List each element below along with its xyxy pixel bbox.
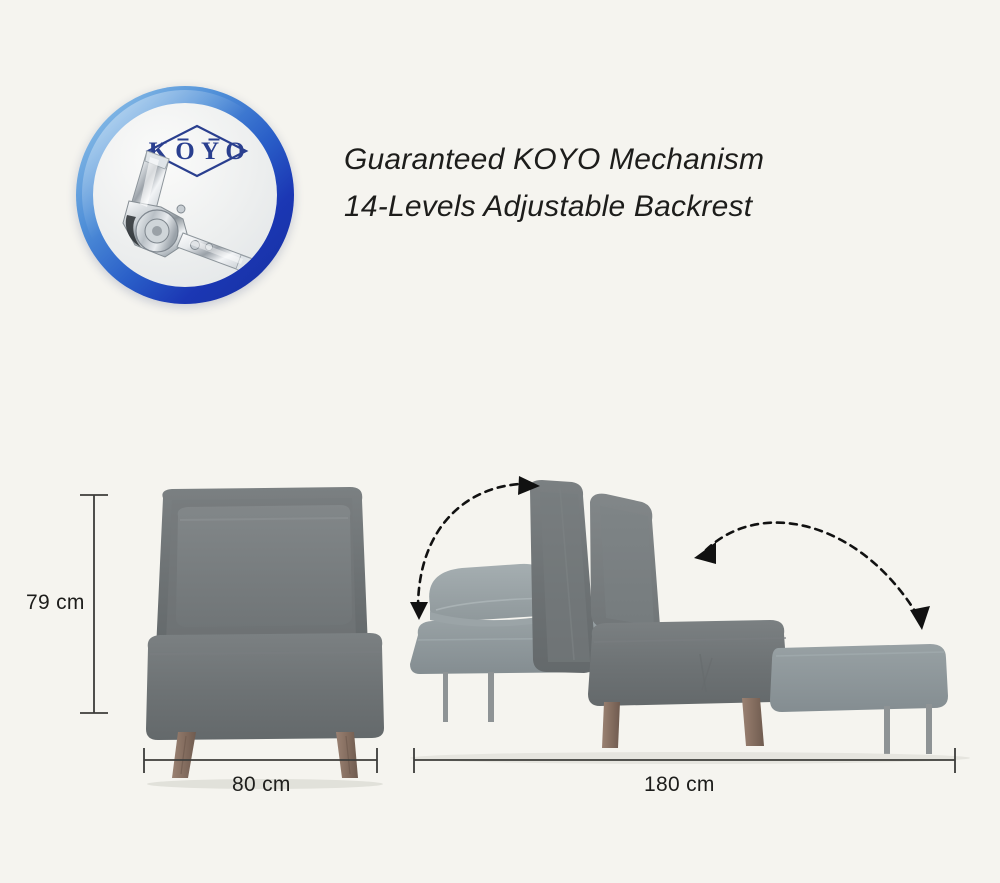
fold-motion-arrow-right-head-down [910,606,930,630]
koyo-mechanism-badge: K O Y O [76,86,294,304]
dimension-label-height: 79 cm [26,591,85,615]
fold-motion-arrow-left-head-down [410,602,428,620]
dimension-label-chair-width: 80 cm [232,773,291,797]
armchair-upright-mode [146,487,384,789]
infographic-page: K O Y O [0,0,1000,883]
badge-face: K O Y O [93,103,277,287]
headline-line-1: Guaranteed KOYO Mechanism [344,136,944,183]
headline-block: Guaranteed KOYO Mechanism 14-Levels Adju… [344,136,944,230]
hinge-mechanism-icon [103,147,271,279]
dimension-diagram [0,440,1000,840]
dimension-bed-width [414,748,955,773]
fold-motion-arrow-right-head-left [694,542,716,564]
dimension-label-bed-width: 180 cm [644,773,715,797]
sofa-bed-flat-mode [410,480,970,764]
fold-motion-arrow-right [706,523,918,616]
header-section: K O Y O [0,0,1000,330]
headline-line-2: 14-Levels Adjustable Backrest [344,183,944,230]
